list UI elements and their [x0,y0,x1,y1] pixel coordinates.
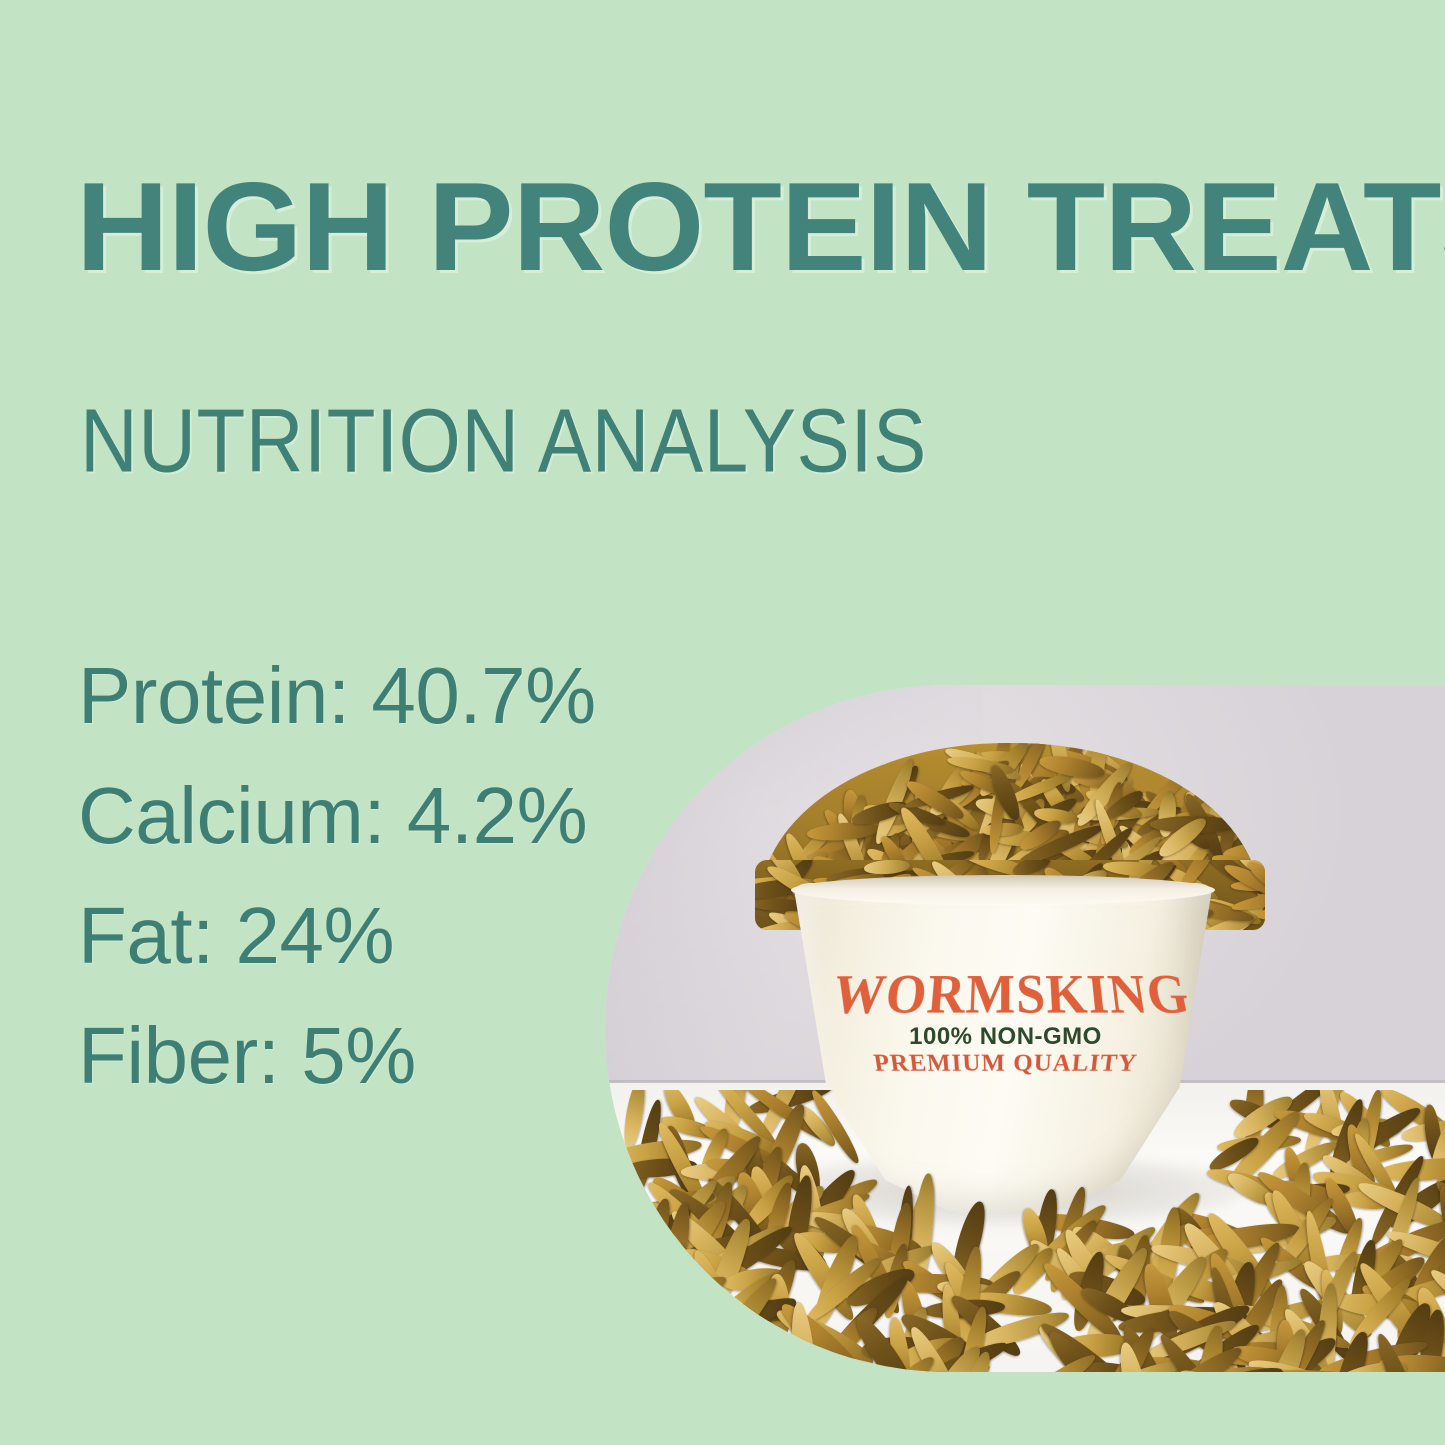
premium-quality-tagline: PREMIUM QUALITY [830,1051,1180,1075]
infographic-canvas: HIGH PROTEIN TREATS NUTRITION ANALYSIS P… [0,0,1445,1445]
product-photo: WORMSKING 100% NON-GMO PREMIUM QUALITY [605,685,1445,1372]
section-subtitle: NUTRITION ANALYSIS [80,396,927,486]
page-title: HIGH PROTEIN TREATS [76,164,1443,290]
brand-name: WORMSKING [827,968,1183,1024]
bowl-rim [791,875,1215,905]
scattered-larvae [605,1090,1445,1372]
non-gmo-tagline: 100% NON-GMO [833,1025,1178,1049]
bowl-logo: WORMSKING 100% NON-GMO PREMIUM QUALITY [833,969,1178,1076]
